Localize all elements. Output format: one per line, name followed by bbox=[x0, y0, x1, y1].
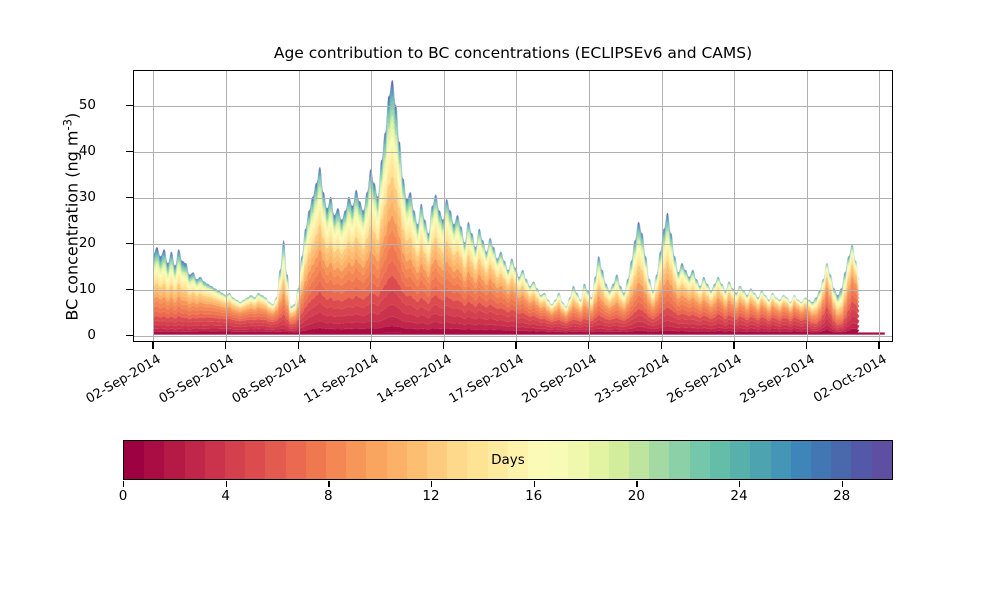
x-tick-mark bbox=[370, 342, 371, 349]
colorbar-swatch bbox=[568, 441, 588, 479]
y-gridline bbox=[134, 198, 892, 199]
y-tick-label: 40 bbox=[79, 143, 96, 159]
x-gridline bbox=[299, 71, 300, 341]
colorbar-tick-label: 16 bbox=[525, 488, 542, 504]
y-tick-label: 50 bbox=[79, 97, 96, 113]
colorbar-swatch bbox=[407, 441, 427, 479]
figure-canvas: Age contribution to BC concentrations (E… bbox=[0, 0, 1000, 600]
colorbar-swatch bbox=[286, 441, 306, 479]
colorbar-swatch bbox=[649, 441, 669, 479]
colorbar-swatch bbox=[225, 441, 245, 479]
colorbar-swatch bbox=[306, 441, 326, 479]
x-gridline bbox=[879, 71, 880, 341]
stacked-area-plot bbox=[134, 71, 892, 341]
colorbar-tick-label: 20 bbox=[628, 488, 645, 504]
y-tick-mark bbox=[126, 243, 133, 244]
x-gridline bbox=[662, 71, 663, 341]
colorbar-tick-label: 24 bbox=[730, 488, 747, 504]
y-gridline bbox=[134, 290, 892, 291]
colorbar-swatch bbox=[811, 441, 831, 479]
colorbar-tick-label: 0 bbox=[119, 488, 128, 504]
colorbar-swatch bbox=[609, 441, 629, 479]
colorbar-tick-mark bbox=[534, 481, 535, 487]
y-tick-mark bbox=[126, 197, 133, 198]
y-axis-label-exponent: -3 bbox=[60, 119, 74, 130]
colorbar-swatch bbox=[205, 441, 225, 479]
colorbar-swatch bbox=[771, 441, 791, 479]
x-tick-mark bbox=[298, 342, 299, 349]
x-tick-mark bbox=[225, 342, 226, 349]
colorbar[interactable] bbox=[123, 440, 893, 480]
colorbar-swatch bbox=[690, 441, 710, 479]
colorbar-swatch bbox=[548, 441, 568, 479]
colorbar-swatch bbox=[164, 441, 184, 479]
y-gridline bbox=[134, 106, 892, 107]
colorbar-swatch bbox=[144, 441, 164, 479]
y-tick-label: 30 bbox=[79, 189, 96, 205]
colorbar-swatch bbox=[265, 441, 285, 479]
colorbar-swatch bbox=[467, 441, 487, 479]
y-tick-label: 20 bbox=[79, 235, 96, 251]
x-tick-mark bbox=[661, 342, 662, 349]
colorbar-swatch bbox=[669, 441, 689, 479]
y-axis-label-suffix: ) bbox=[63, 113, 82, 119]
colorbar-swatch bbox=[589, 441, 609, 479]
colorbar-swatch bbox=[791, 441, 811, 479]
y-tick-mark bbox=[126, 105, 133, 106]
colorbar-swatch bbox=[528, 441, 548, 479]
y-tick-mark bbox=[126, 289, 133, 290]
colorbar-swatch bbox=[346, 441, 366, 479]
x-gridline bbox=[807, 71, 808, 341]
y-tick-label: 10 bbox=[79, 281, 96, 297]
y-tick-mark bbox=[126, 335, 133, 336]
y-gridline bbox=[134, 336, 892, 337]
y-gridline bbox=[134, 152, 892, 153]
colorbar-swatch bbox=[124, 441, 144, 479]
colorbar-tick-label: 8 bbox=[324, 488, 333, 504]
x-tick-mark bbox=[152, 342, 153, 349]
colorbar-swatch bbox=[366, 441, 386, 479]
colorbar-swatch bbox=[508, 441, 528, 479]
x-gridline bbox=[516, 71, 517, 341]
colorbar-swatch bbox=[387, 441, 407, 479]
x-tick-mark bbox=[515, 342, 516, 349]
x-tick-mark bbox=[443, 342, 444, 349]
colorbar-tick-label: 12 bbox=[422, 488, 439, 504]
colorbar-tick-mark bbox=[842, 481, 843, 487]
plot-area bbox=[133, 70, 893, 342]
x-tick-mark bbox=[806, 342, 807, 349]
x-gridline bbox=[589, 71, 590, 341]
x-gridline bbox=[371, 71, 372, 341]
chart-title: Age contribution to BC concentrations (E… bbox=[133, 44, 893, 62]
colorbar-swatch bbox=[831, 441, 851, 479]
x-tick-mark bbox=[588, 342, 589, 349]
y-axis-label: BC concentration (ng m-3) bbox=[60, 77, 81, 357]
colorbar-tick-mark bbox=[431, 481, 432, 487]
colorbar-tick-mark bbox=[739, 481, 740, 487]
colorbar-tick-mark bbox=[636, 481, 637, 487]
x-gridline bbox=[153, 71, 154, 341]
colorbar-tick-mark bbox=[123, 481, 124, 487]
y-tick-mark bbox=[126, 151, 133, 152]
colorbar-swatch bbox=[710, 441, 730, 479]
colorbar-swatch bbox=[447, 441, 467, 479]
colorbar-swatch bbox=[730, 441, 750, 479]
x-gridline bbox=[734, 71, 735, 341]
colorbar-swatch bbox=[629, 441, 649, 479]
colorbar-tick-label: 4 bbox=[221, 488, 230, 504]
colorbar-swatch bbox=[851, 441, 871, 479]
colorbar-swatch bbox=[185, 441, 205, 479]
colorbar-swatch bbox=[872, 441, 892, 479]
x-gridline bbox=[444, 71, 445, 341]
x-tick-mark bbox=[733, 342, 734, 349]
colorbar-tick-mark bbox=[226, 481, 227, 487]
colorbar-swatch bbox=[245, 441, 265, 479]
x-tick-mark bbox=[878, 342, 879, 349]
y-tick-label: 0 bbox=[87, 327, 96, 343]
colorbar-swatch bbox=[427, 441, 447, 479]
x-gridline bbox=[226, 71, 227, 341]
colorbar-swatch bbox=[750, 441, 770, 479]
colorbar-swatch bbox=[488, 441, 508, 479]
colorbar-tick-mark bbox=[328, 481, 329, 487]
y-gridline bbox=[134, 244, 892, 245]
colorbar-swatch bbox=[326, 441, 346, 479]
colorbar-tick-label: 28 bbox=[833, 488, 850, 504]
